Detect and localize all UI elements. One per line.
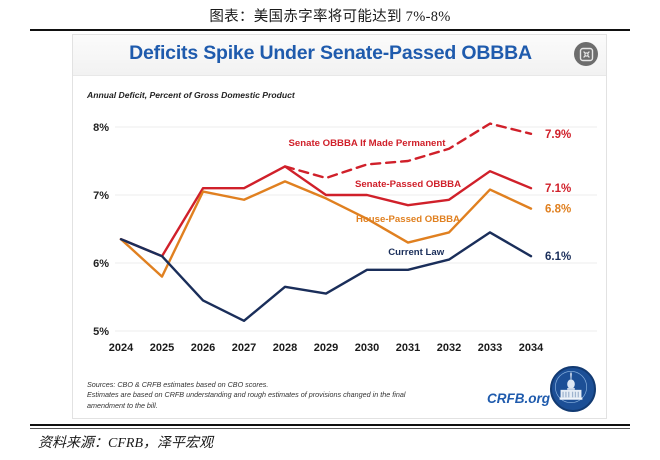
y-tick-label: 6% [93, 258, 109, 270]
series-end-label: 6.8% [545, 204, 571, 216]
x-tick-label: 2024 [109, 342, 134, 354]
capitol-dome-seal-icon [550, 366, 596, 412]
x-tick-label: 2027 [232, 342, 256, 354]
chart-card: Deficits Spike Under Senate-Passed OBBBA… [72, 34, 607, 419]
x-tick-label: 2032 [437, 342, 461, 354]
chart-plot-area: 5%6%7%8% 2024202520262027202820292030203… [73, 109, 606, 361]
y-tick-label: 5% [93, 326, 109, 338]
page-source-note: 资料来源：CFRB，泽平宏观 [38, 432, 213, 452]
chart-sources-note: Sources: CBO & CRFB estimates based on C… [87, 380, 405, 411]
x-tick-label: 2033 [478, 342, 502, 354]
y-axis-tick-labels: 5%6%7%8% [93, 122, 109, 338]
series-line [285, 124, 531, 178]
bottom-divider [30, 424, 630, 426]
x-tick-label: 2026 [191, 342, 215, 354]
y-tick-label: 8% [93, 122, 109, 134]
series-name-label: House-Passed OBBBA [356, 214, 460, 225]
x-tick-label: 2034 [519, 342, 544, 354]
series-end-label: 7.1% [545, 183, 571, 195]
gridlines [115, 127, 597, 331]
chart-card-header: Deficits Spike Under Senate-Passed OBBBA [73, 35, 606, 76]
top-divider [30, 29, 630, 31]
expand-fullscreen-icon[interactable] [574, 42, 598, 66]
series-name-label: Senate-Passed OBBBA [355, 179, 461, 190]
x-tick-label: 2029 [314, 342, 338, 354]
y-tick-label: 7% [93, 190, 109, 202]
crfb-logo-text[interactable]: CRFB.org [487, 391, 550, 406]
x-tick-label: 2030 [355, 342, 379, 354]
series-end-label: 7.9% [545, 129, 571, 141]
x-tick-label: 2031 [396, 342, 420, 354]
series-lines [121, 124, 531, 321]
chart-title: Deficits Spike Under Senate-Passed OBBBA [73, 42, 606, 65]
x-tick-label: 2025 [150, 342, 174, 354]
chart-subtitle: Annual Deficit, Percent of Gross Domesti… [87, 90, 295, 100]
x-axis-tick-labels: 2024202520262027202820292030203120322033… [109, 342, 544, 354]
x-tick-label: 2028 [273, 342, 297, 354]
series-name-label: Senate OBBBA If Made Permanent [289, 138, 447, 149]
line-chart-svg: 5%6%7%8% 2024202520262027202820292030203… [73, 109, 606, 361]
series-line [121, 232, 531, 320]
series-end-value-labels: 7.9%7.1%6.8%6.1% [545, 129, 571, 263]
page-title: 图表：美国赤字率将可能达到 7%-8% [0, 5, 660, 26]
series-end-label: 6.1% [545, 251, 571, 263]
series-name-label: Current Law [388, 247, 445, 258]
